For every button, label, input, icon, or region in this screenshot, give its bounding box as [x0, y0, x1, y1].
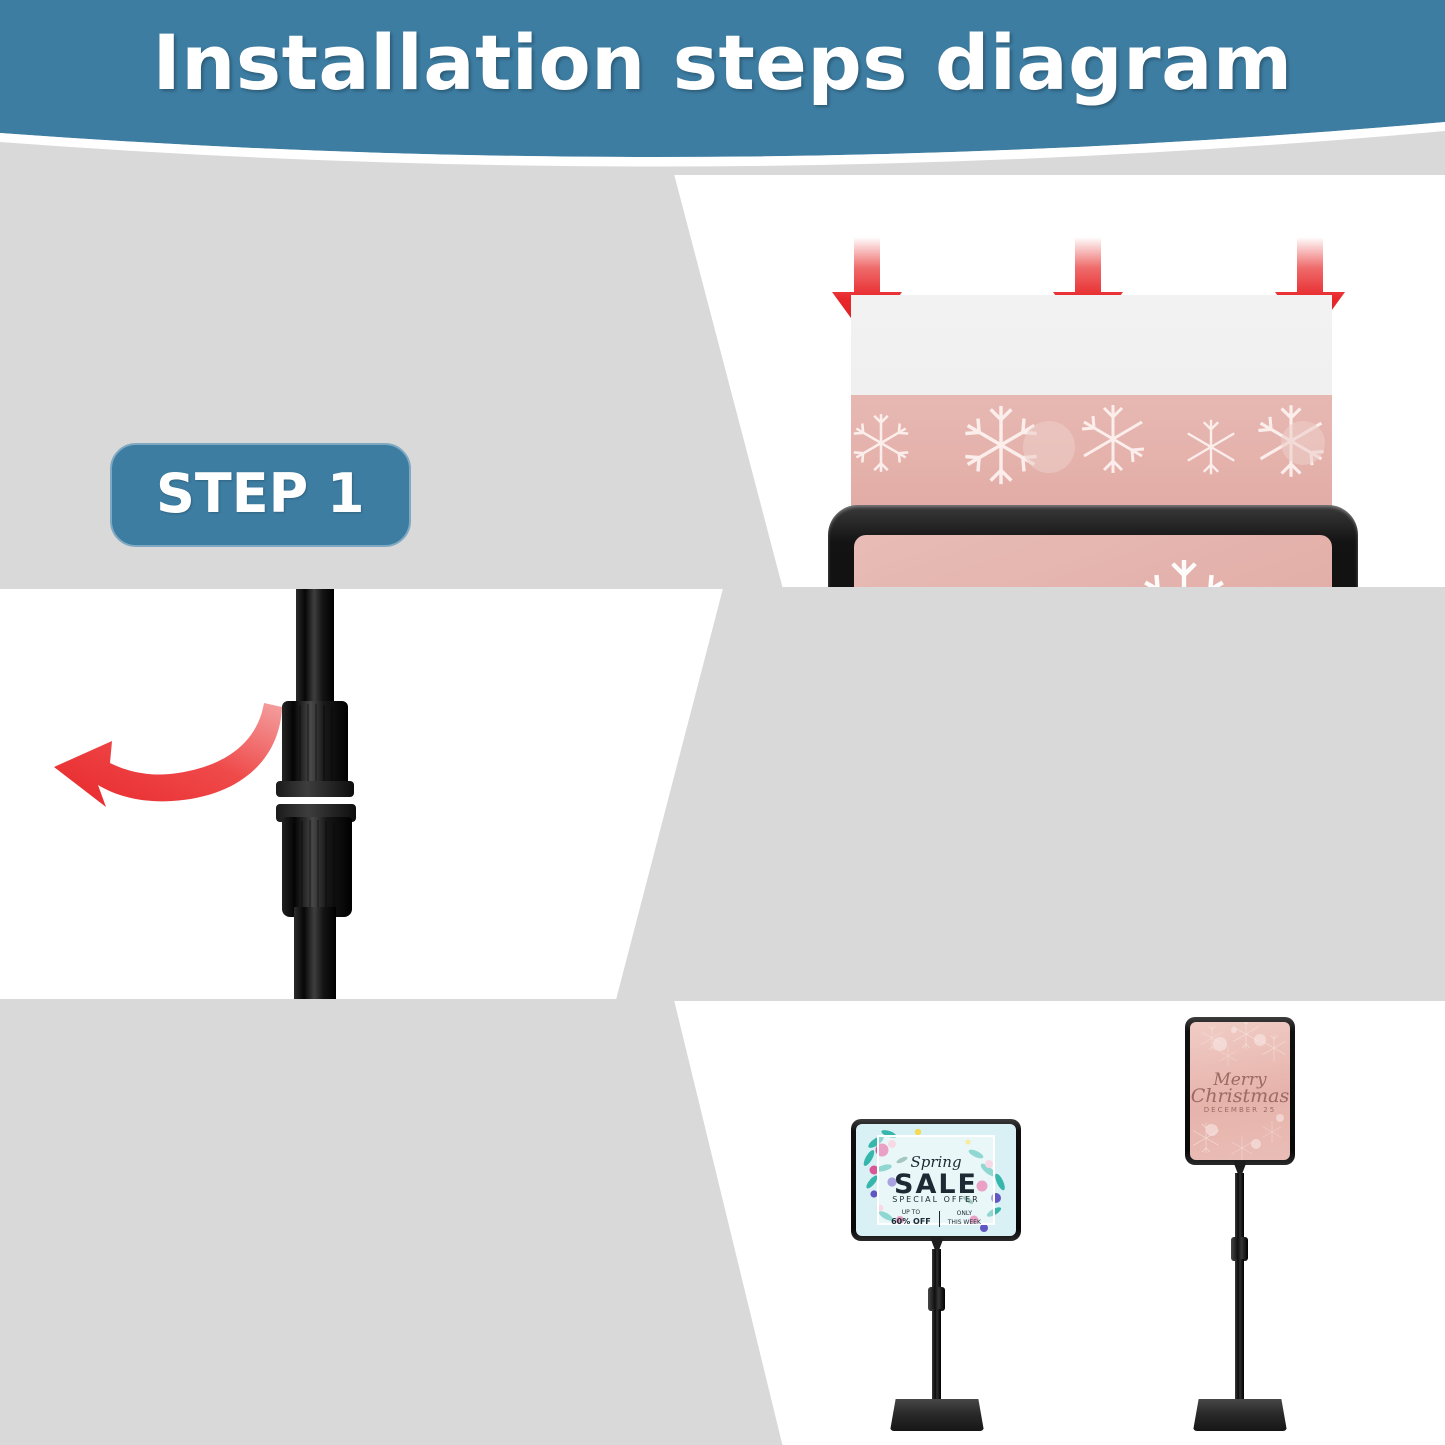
step-1-illustration-panel — [632, 175, 1445, 587]
promo-right-line2: THIS WEEK — [948, 1219, 981, 1226]
spring-stand-base — [890, 1399, 984, 1431]
promo-divider — [939, 1211, 940, 1227]
snowflake-pattern-frame — [854, 535, 1332, 587]
step-1-text-block: STEP 1 Insert advertising paper into the… — [110, 443, 614, 587]
step-row-3: Spring SALE SPECIAL OFFER UP TO 60% OFF … — [0, 1001, 1445, 1445]
advertising-paper-sheet — [851, 295, 1332, 528]
sign-frame-top-portion — [828, 505, 1358, 587]
christmas-sign-face: Merry Christmas DECEMBER 25 — [1190, 1022, 1290, 1160]
promo-left-line1: UP TO — [902, 1209, 920, 1216]
step-1-badge: STEP 1 — [110, 443, 411, 547]
spring-sign-face: Spring SALE SPECIAL OFFER UP TO 60% OFF … — [856, 1124, 1016, 1236]
sign-stand-spring: Spring SALE SPECIAL OFFER UP TO 60% OFF … — [832, 1001, 1092, 1445]
step-row-2: STEP 2 Connect the knob to snap — [0, 589, 1445, 999]
promo-right-line1: ONLY — [957, 1210, 972, 1217]
christmas-stand-pole-lower — [1235, 1259, 1244, 1404]
spring-promo-right: ONLY THIS WEEK — [948, 1210, 981, 1226]
spring-stand-pole-lower — [932, 1309, 941, 1404]
step-3-illustration-panel: Spring SALE SPECIAL OFFER UP TO 60% OFF … — [632, 1001, 1445, 1445]
spring-promos: UP TO 60% OFF ONLY THIS WEEK — [882, 1209, 991, 1228]
christmas-stand-base — [1193, 1399, 1287, 1431]
lower-pole — [294, 907, 336, 999]
spring-stand-pole-upper — [932, 1249, 941, 1289]
installation-steps-diagram: Installation steps diagram — [0, 0, 1445, 1445]
christmas-script-word-2: Christmas — [1190, 1085, 1290, 1107]
promo-left-line2: 60% OFF — [891, 1217, 931, 1226]
page-title: Installation steps diagram — [0, 18, 1445, 107]
upper-pole — [296, 589, 334, 719]
spring-subhead: SPECIAL OFFER — [856, 1195, 1016, 1204]
header-banner: Installation steps diagram — [0, 0, 1445, 175]
spring-promo-left: UP TO 60% OFF — [891, 1209, 931, 1228]
step-2-illustration-panel — [0, 589, 790, 999]
christmas-stand-pole-upper — [1235, 1173, 1244, 1239]
christmas-date: DECEMBER 25 — [1190, 1106, 1290, 1114]
step-1-description: Insert advertising paper into the card s… — [110, 581, 614, 587]
spring-sign-frame: Spring SALE SPECIAL OFFER UP TO 60% OFF … — [851, 1119, 1021, 1241]
step-2-art — [0, 589, 790, 999]
spring-stand-knob — [928, 1287, 945, 1311]
sign-stand-christmas: Merry Christmas DECEMBER 25 — [1142, 1001, 1402, 1445]
christmas-sign-frame: Merry Christmas DECEMBER 25 — [1185, 1017, 1295, 1165]
christmas-stand-knob — [1231, 1237, 1248, 1261]
rotate-arrow-icon — [50, 689, 300, 839]
step-row-1: STEP 1 Insert advertising paper into the… — [0, 175, 1445, 587]
frame-inner-poster — [854, 535, 1332, 587]
